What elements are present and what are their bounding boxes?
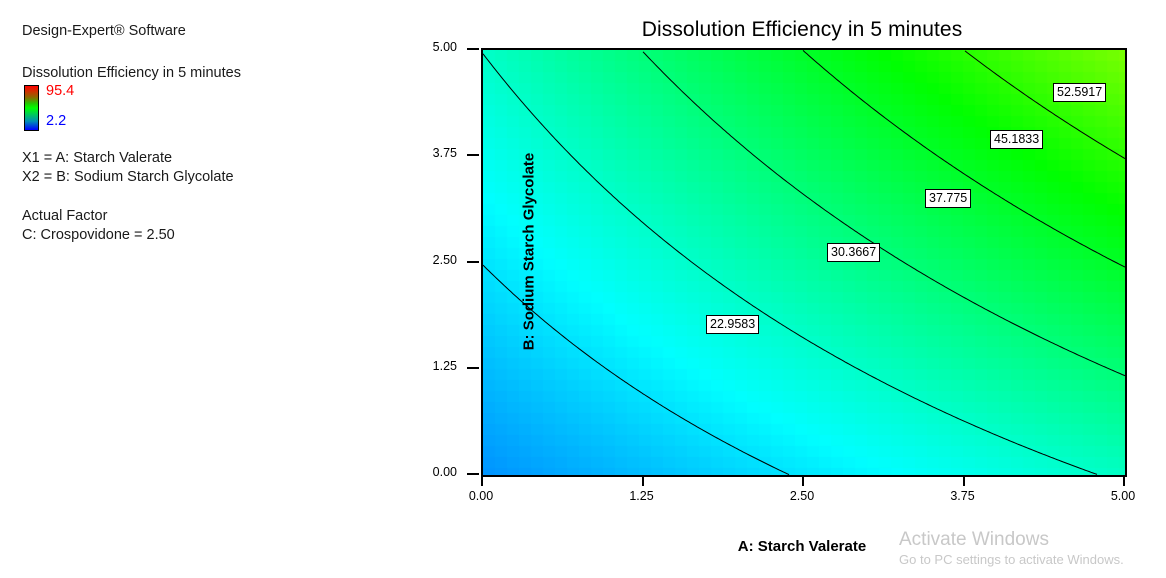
contour-plot-screen: Design-Expert® Software Dissolution Effi… (0, 0, 1166, 578)
windows-activation-watermark: Activate Windows Go to PC settings to ac… (899, 528, 1159, 569)
x-tick-mark (802, 475, 804, 486)
contour-line (483, 54, 1097, 475)
y-tick-label: 3.75 (411, 146, 457, 160)
x-tick-label: 0.00 (451, 489, 511, 503)
x-tick-mark (963, 475, 965, 486)
contour-label: 45.1833 (990, 130, 1043, 149)
x-tick-mark (1123, 475, 1125, 486)
contour-label: 30.3667 (827, 243, 880, 262)
x-tick-label: 3.75 (933, 489, 993, 503)
contour-line (965, 51, 1125, 159)
y-tick-label: 5.00 (411, 40, 457, 54)
chart-title: Dissolution Efficiency in 5 minutes (481, 18, 1123, 42)
watermark-subtitle: Go to PC settings to activate Windows. (899, 551, 1159, 569)
x-tick-mark (642, 475, 644, 486)
x-tick-label: 2.50 (772, 489, 832, 503)
plot-area (481, 48, 1127, 477)
y-tick-mark (467, 48, 479, 50)
y-tick-label: 1.25 (411, 359, 457, 373)
watermark-title: Activate Windows (899, 528, 1159, 551)
y-tick-mark (467, 154, 479, 156)
contour-line (483, 265, 789, 475)
x-tick-label: 5.00 (1093, 489, 1153, 503)
contour-label: 37.775 (925, 189, 971, 208)
y-tick-label: 2.50 (411, 253, 457, 267)
contour-lines (483, 50, 1125, 475)
y-tick-mark (467, 261, 479, 263)
y-tick-label: 0.00 (411, 465, 457, 479)
chart-area: Dissolution Efficiency in 5 minutes 22.9… (0, 0, 1166, 578)
x-tick-label: 1.25 (612, 489, 672, 503)
y-tick-mark (467, 367, 479, 369)
contour-label: 22.9583 (706, 315, 759, 334)
contour-label: 52.5917 (1053, 83, 1106, 102)
y-tick-mark (467, 473, 479, 475)
x-tick-mark (481, 475, 483, 486)
